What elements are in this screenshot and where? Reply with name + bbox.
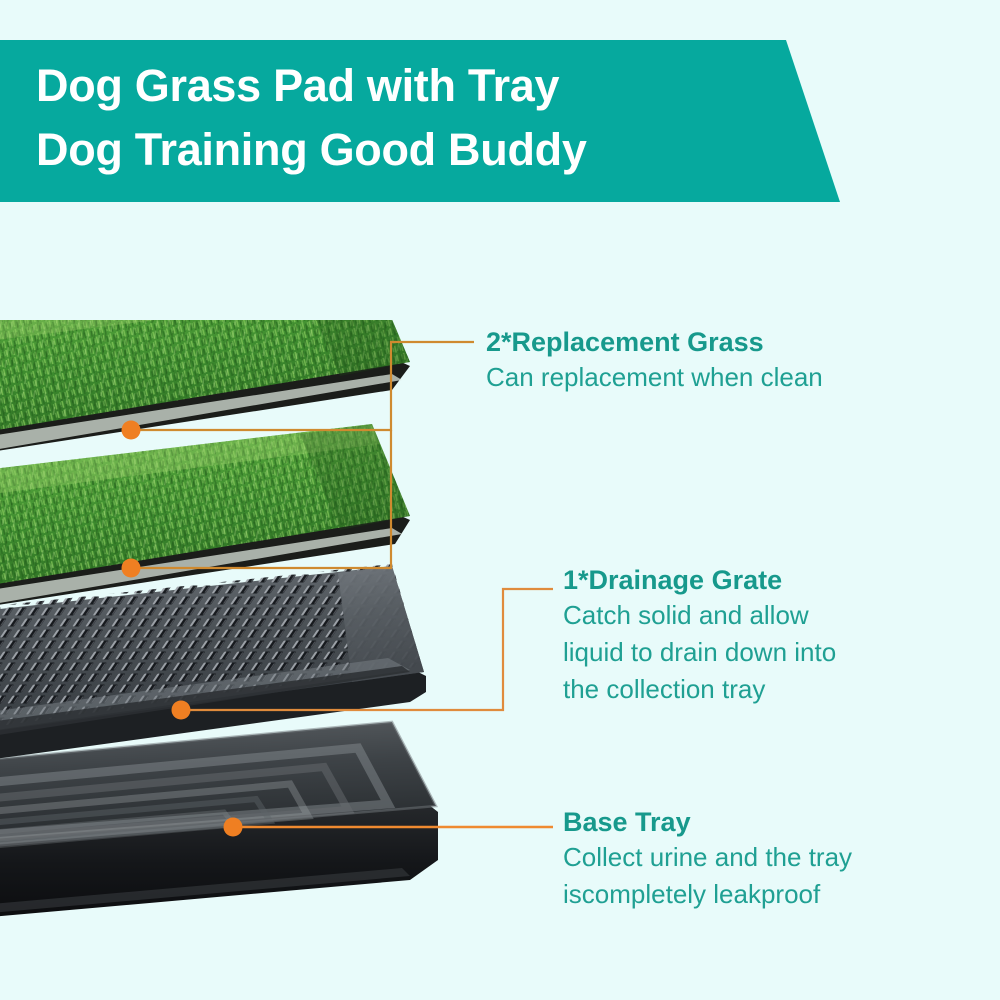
callout-desc-line: Collect urine and the tray [563, 839, 852, 876]
page-title: Dog Grass Pad with Tray Dog Training Goo… [36, 54, 796, 182]
callout-desc-line: liquid to drain down into [563, 634, 836, 671]
callout-title-replacement-grass: 2*Replacement Grass [486, 325, 823, 359]
infographic-canvas: Dog Grass Pad with Tray Dog Training Goo… [0, 0, 1000, 1000]
callout-title-base-tray: Base Tray [563, 805, 852, 839]
callout-title-drainage-grate: 1*Drainage Grate [563, 563, 836, 597]
page-title-line-1: Dog Grass Pad with Tray [36, 54, 796, 118]
callout-desc-replacement-grass: Can replacement when clean [486, 359, 823, 396]
callout-desc-base-tray: Collect urine and the tray iscompletely … [563, 839, 852, 913]
callout-desc-line: Can replacement when clean [486, 359, 823, 396]
page-title-line-2: Dog Training Good Buddy [36, 118, 796, 182]
callout-desc-drainage-grate: Catch solid and allow liquid to drain do… [563, 597, 836, 708]
callout-desc-line: Catch solid and allow [563, 597, 836, 634]
header-banner: Dog Grass Pad with Tray Dog Training Goo… [0, 40, 840, 202]
callout-drainage-grate: 1*Drainage Grate Catch solid and allow l… [563, 563, 836, 708]
product-layer-base-tray [0, 722, 438, 925]
product-illustration [0, 320, 560, 940]
callout-desc-line: the collection tray [563, 671, 836, 708]
callout-base-tray: Base Tray Collect urine and the tray isc… [563, 805, 852, 913]
product-exploded-view [0, 320, 560, 940]
callout-replacement-grass: 2*Replacement Grass Can replacement when… [486, 325, 823, 396]
callout-desc-line: iscompletely leakproof [563, 876, 852, 913]
